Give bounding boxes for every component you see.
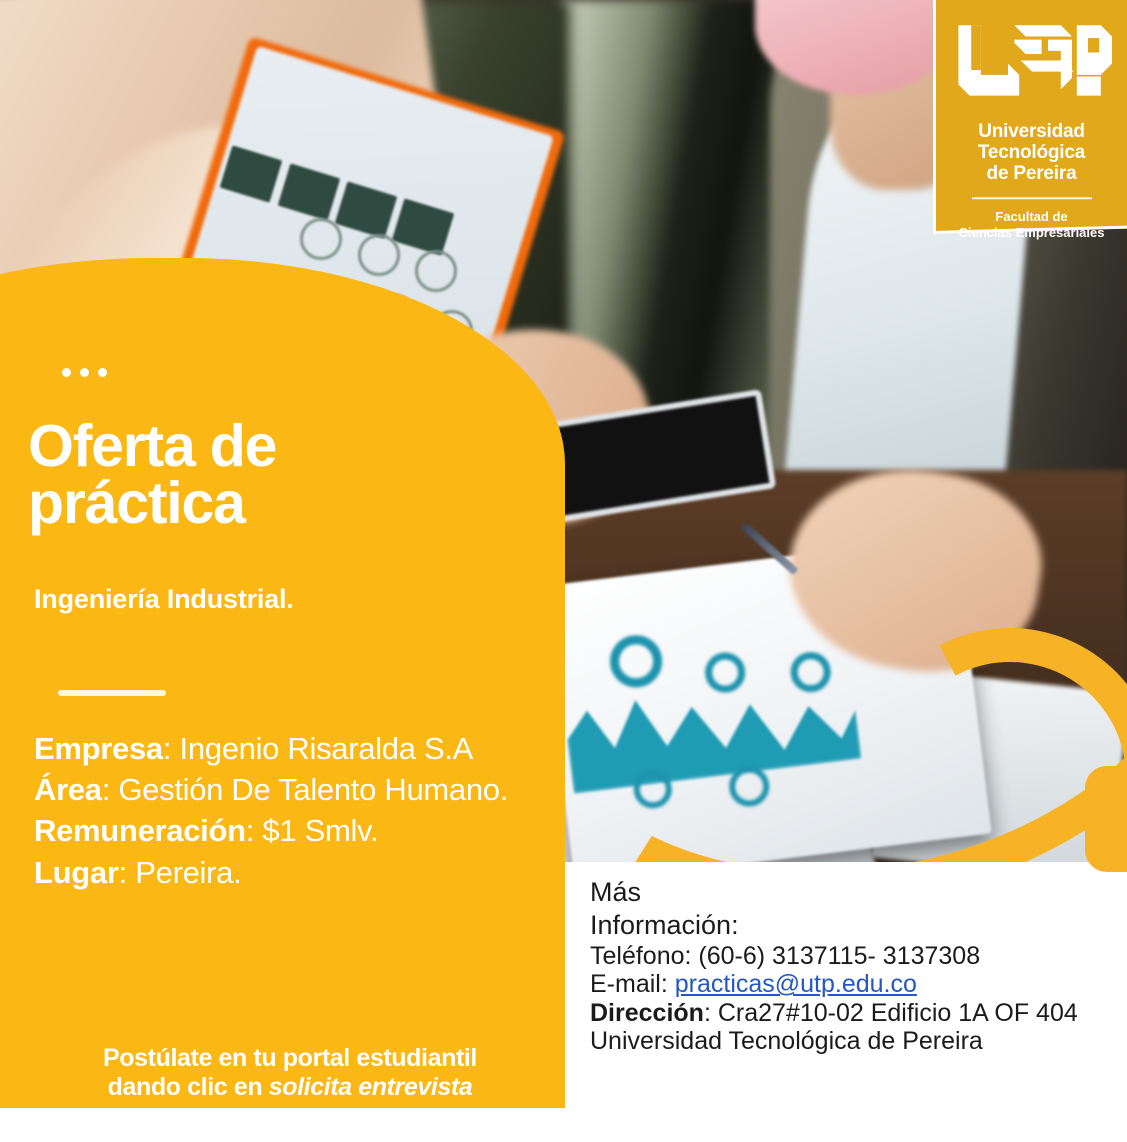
detail-remuneracion: Remuneración: $1 Smlv. — [34, 810, 534, 851]
contact-address-value: : Cra27#10-02 Edificio 1A OF 404 — [704, 999, 1078, 1027]
decorative-dots — [62, 368, 107, 377]
logo-faculty-line2: Ciencias Empresariales — [936, 225, 1127, 241]
cta-line-1: Postúlate en tu portal estudiantil — [30, 1044, 550, 1073]
yellow-content-panel — [0, 258, 565, 1142]
utp-logotype-icon — [952, 19, 1112, 111]
contact-email-row: E-mail: practicas@utp.edu.co — [590, 970, 1120, 999]
logo-university-line1: Universidad Tecnológica — [936, 122, 1127, 164]
contact-institution: Universidad Tecnológica de Pereira — [590, 1027, 1120, 1056]
detail-area-value: : Gestión De Talento Humano. — [102, 772, 508, 807]
photo-circle-icon — [415, 250, 457, 292]
contact-address: Dirección: Cra27#10-02 Edificio 1A OF 40… — [590, 999, 1120, 1028]
detail-area-label: Área — [34, 772, 102, 807]
detail-remuneracion-label: Remuneración — [34, 813, 246, 848]
contact-email-label: E-mail: — [590, 970, 675, 998]
logo-university-line2: de Pereira — [936, 164, 1127, 185]
contact-heading-line1: Más — [590, 876, 1120, 909]
logo-faculty-line1: Facultad de — [936, 209, 1127, 225]
dot-icon — [98, 368, 107, 377]
contact-phone: Teléfono: (60-6) 3137115- 3137308 — [590, 942, 1120, 971]
detail-area: Área: Gestión De Talento Humano. — [34, 769, 534, 810]
program-name: Ingeniería Industrial. — [34, 584, 514, 615]
utp-logo-badge: Universidad Tecnológica de Pereira Facul… — [933, 0, 1127, 234]
cta-emphasis: solicita entrevista — [269, 1073, 473, 1101]
photo-circle-icon — [358, 234, 400, 276]
title-line-1: Oferta de — [28, 418, 508, 475]
contact-information: Más Información: Teléfono: (60-6) 313711… — [590, 876, 1120, 1056]
contact-email-link[interactable]: practicas@utp.edu.co — [675, 970, 917, 998]
cta-line-2: dando clic en solicita entrevista — [30, 1073, 550, 1102]
poster-title: Oferta de práctica — [28, 418, 508, 532]
section-divider — [58, 690, 166, 696]
practice-offer-poster: Universidad Tecnológica de Pereira Facul… — [0, 0, 1127, 1142]
bottom-white-strip — [0, 1108, 1127, 1142]
detail-remuneracion-value: : $1 Smlv. — [246, 813, 379, 848]
photo-circle-icon — [300, 218, 342, 260]
dot-icon — [80, 368, 89, 377]
contact-address-label: Dirección — [590, 999, 704, 1027]
title-line-2: práctica — [28, 475, 508, 532]
detail-lugar-label: Lugar — [34, 855, 119, 890]
offer-details: Empresa: Ingenio Risaralda S.A Área: Ges… — [34, 728, 534, 893]
cta-line2-prefix: dando clic en — [108, 1073, 269, 1101]
detail-lugar: Lugar: Pereira. — [34, 852, 534, 893]
yellow-side-tab — [1085, 766, 1127, 872]
logo-divider — [972, 197, 1092, 199]
dot-icon — [62, 368, 71, 377]
detail-empresa: Empresa: Ingenio Risaralda S.A — [34, 728, 534, 769]
detail-empresa-value: : Ingenio Risaralda S.A — [163, 731, 473, 766]
detail-empresa-label: Empresa — [34, 731, 163, 766]
detail-lugar-value: : Pereira. — [119, 855, 242, 890]
contact-heading-line2: Información: — [590, 909, 1120, 942]
call-to-action: Postúlate en tu portal estudiantil dando… — [30, 1044, 550, 1102]
